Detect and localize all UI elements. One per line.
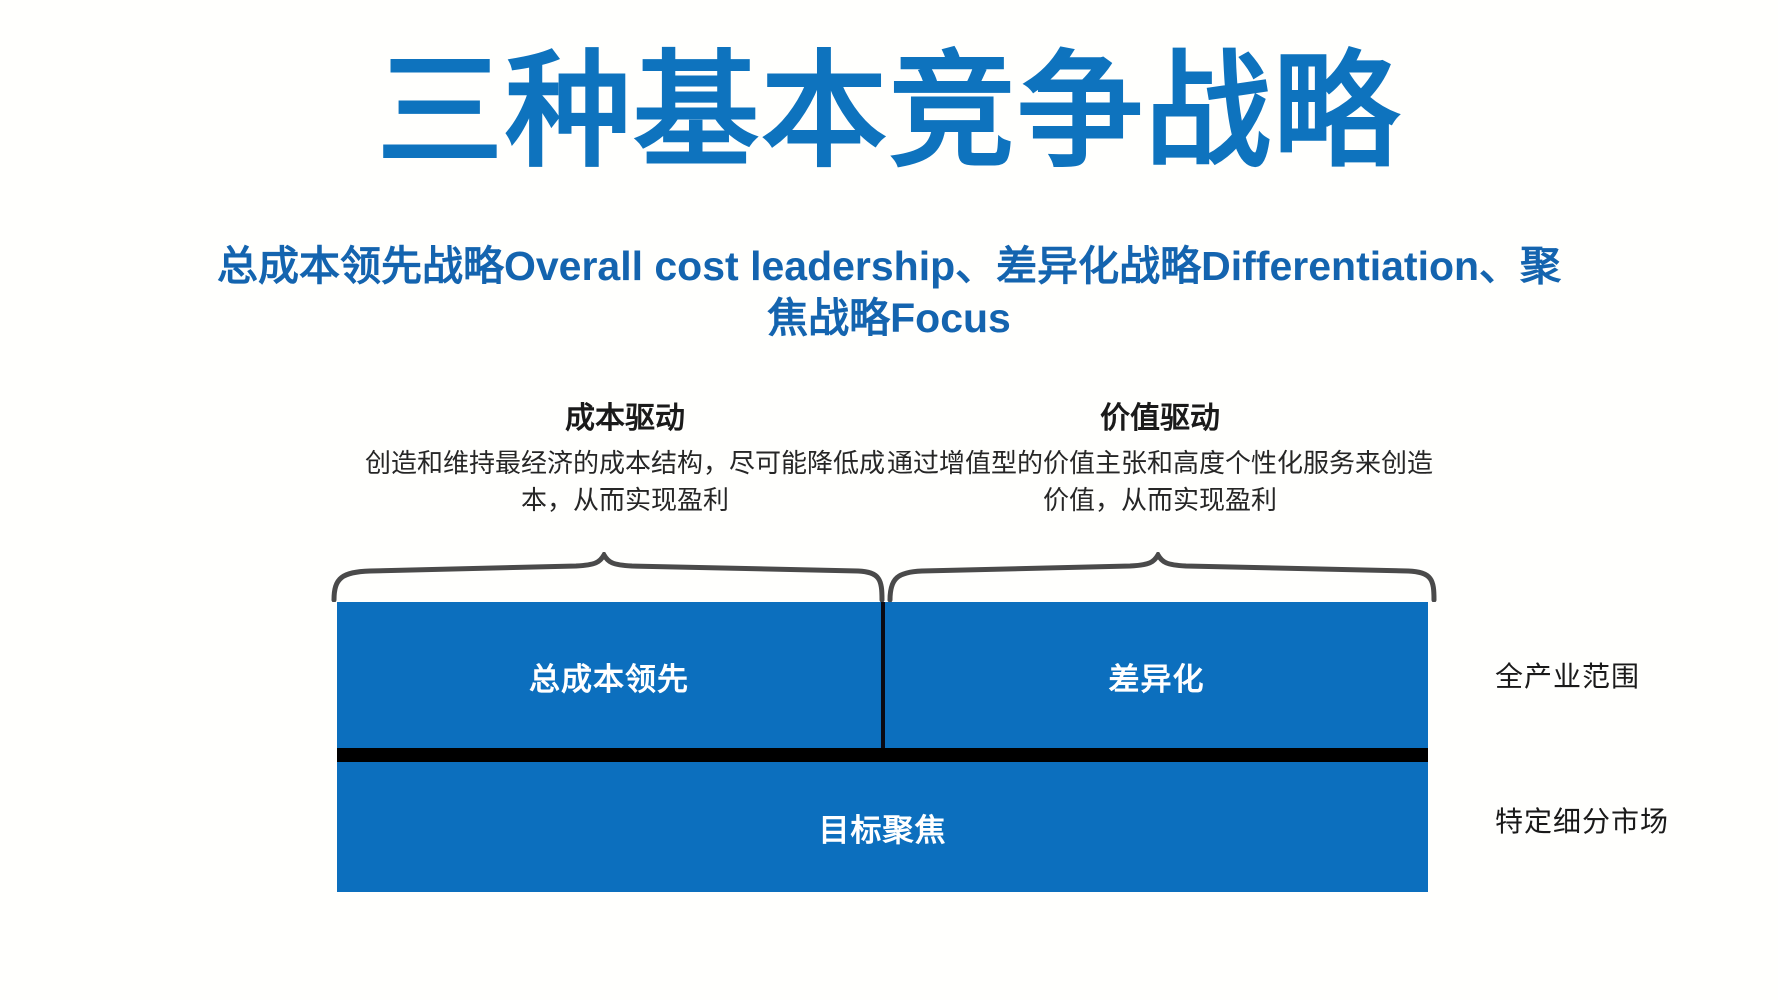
cost-driver-description: 创造和维持最经济的成本结构，尽可能降低成本，从而实现盈利 <box>345 445 905 519</box>
matrix-row: 总成本领先 差异化 <box>337 602 1428 750</box>
matrix-cell-cost-leadership[interactable]: 总成本领先 <box>337 602 885 750</box>
cost-driver-column: 成本驱动 创造和维持最经济的成本结构，尽可能降低成本，从而实现盈利 <box>345 402 905 519</box>
value-driver-column: 价值驱动 通过增值型的价值主张和高度个性化服务来创造价值，从而实现盈利 <box>880 402 1440 519</box>
matrix-cell-label: 差异化 <box>1109 654 1205 699</box>
value-driver-description: 通过增值型的价值主张和高度个性化服务来创造价值，从而实现盈利 <box>880 445 1440 519</box>
matrix-cell-label: 总成本领先 <box>529 654 689 699</box>
page-title: 三种基本竞争战略 <box>0 46 1778 178</box>
brace-group <box>330 552 1440 602</box>
matrix-row: 目标聚焦 <box>337 762 1428 892</box>
scope-label-segment: 特定细分市场 <box>1495 800 1669 840</box>
cost-driver-title: 成本驱动 <box>345 402 905 435</box>
scope-label-industry-wide: 全产业范围 <box>1495 655 1640 695</box>
right-curly-brace-up-icon <box>890 555 1434 600</box>
value-driver-title: 价值驱动 <box>880 402 1440 435</box>
matrix-cell-label: 目标聚焦 <box>819 805 947 850</box>
left-curly-brace-up-icon <box>334 555 882 600</box>
matrix-cell-differentiation[interactable]: 差异化 <box>885 602 1428 750</box>
braces-svg <box>330 552 1440 602</box>
matrix-cell-focus[interactable]: 目标聚焦 <box>337 762 1428 892</box>
page-subtitle: 总成本领先战略Overall cost leadership、差异化战略Diff… <box>200 240 1578 345</box>
strategy-matrix: 总成本领先 差异化 目标聚焦 <box>337 602 1428 892</box>
